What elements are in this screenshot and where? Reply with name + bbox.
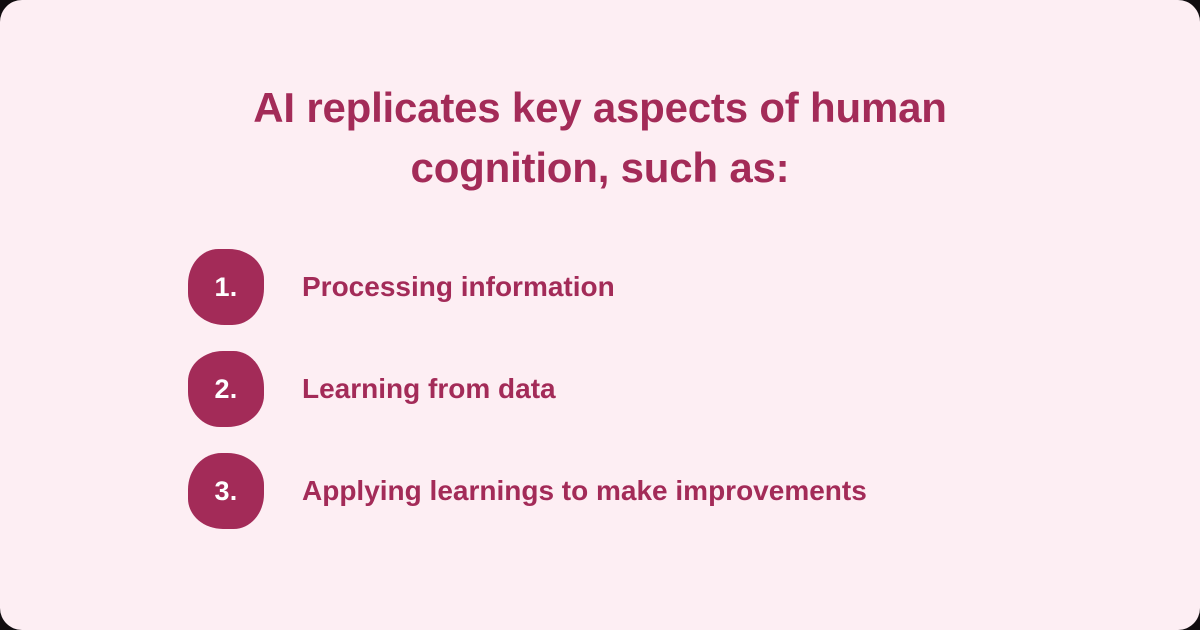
list-number-badge: 1. xyxy=(188,249,264,325)
list-number-badge: 3. xyxy=(188,453,264,529)
list-number-badge: 2. xyxy=(188,351,264,427)
list-item: 1. Processing information xyxy=(188,249,1200,325)
list-item: 3. Applying learnings to make improvemen… xyxy=(188,453,1200,529)
page-title: AI replicates key aspects of human cogni… xyxy=(0,0,1200,197)
slide-card: AI replicates key aspects of human cogni… xyxy=(0,0,1200,630)
list-item-label: Processing information xyxy=(302,270,615,304)
numbered-list: 1. Processing information 2. Learning fr… xyxy=(0,249,1200,529)
list-item: 2. Learning from data xyxy=(188,351,1200,427)
list-item-label: Learning from data xyxy=(302,372,556,406)
list-item-label: Applying learnings to make improvements xyxy=(302,474,867,508)
